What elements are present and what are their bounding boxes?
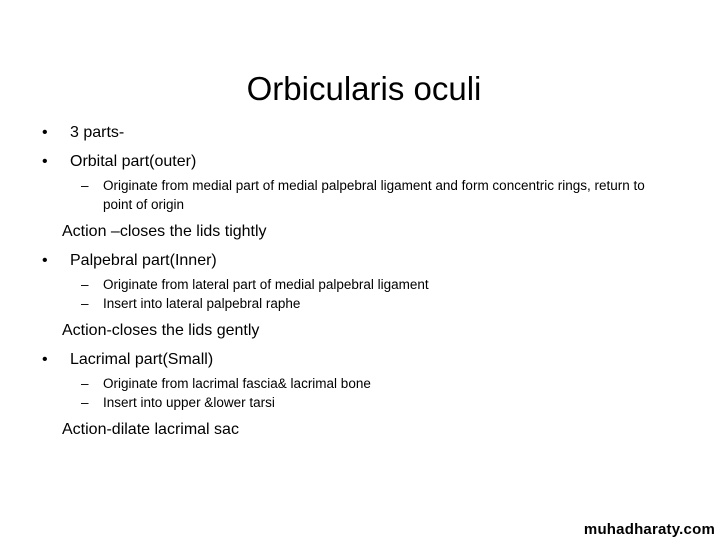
sub-list-item-label: Insert into lateral palpebral raphe [103,296,300,311]
list-item: • Lacrimal part(Small) [0,345,728,374]
watermark: muhadharaty.com [584,521,715,538]
sub-list-item: – Insert into lateral palpebral raphe [0,294,728,313]
bullet-icon: • [42,246,48,275]
list-item-label: 3 parts- [70,124,124,141]
list-item: • Palpebral part(Inner) [0,246,728,275]
dash-icon: – [81,176,89,195]
list-item-label: Palpebral part(Inner) [70,252,217,269]
bullet-icon: • [42,345,48,374]
sub-list-item-label: Insert into upper &lower tarsi [103,395,275,410]
dash-icon: – [81,275,89,294]
sub-list-item-label: Originate from medial part of medial pal… [103,178,645,212]
list-item: • Orbital part(outer) [0,147,728,176]
list-item-label: Orbital part(outer) [70,153,196,170]
sub-list-item-label: Originate from lateral part of medial pa… [103,277,429,292]
sub-list-item-label: Originate from lacrimal fascia& lacrimal… [103,376,371,391]
sub-list-item: – Originate from lateral part of medial … [0,275,728,294]
slide-body: • 3 parts- • Orbital part(outer) – Origi… [0,118,728,444]
page-title: Orbicularis oculi [0,69,728,109]
action-line: Action-closes the lids gently [0,316,728,345]
sub-list-item: – Originate from lacrimal fascia& lacrim… [0,374,728,393]
list-item: • 3 parts- [0,118,728,147]
bullet-icon: • [42,147,48,176]
dash-icon: – [81,374,89,393]
list-item-label: Lacrimal part(Small) [70,351,213,368]
dash-icon: – [81,393,89,412]
slide: Orbicularis oculi • 3 parts- • Orbital p… [0,0,728,546]
sub-list-item: – Insert into upper &lower tarsi [0,393,728,412]
action-line: Action –closes the lids tightly [0,217,728,246]
dash-icon: – [81,294,89,313]
sub-list-item: – Originate from medial part of medial p… [0,176,728,214]
bullet-icon: • [42,118,48,147]
action-line: Action-dilate lacrimal sac [0,415,728,444]
